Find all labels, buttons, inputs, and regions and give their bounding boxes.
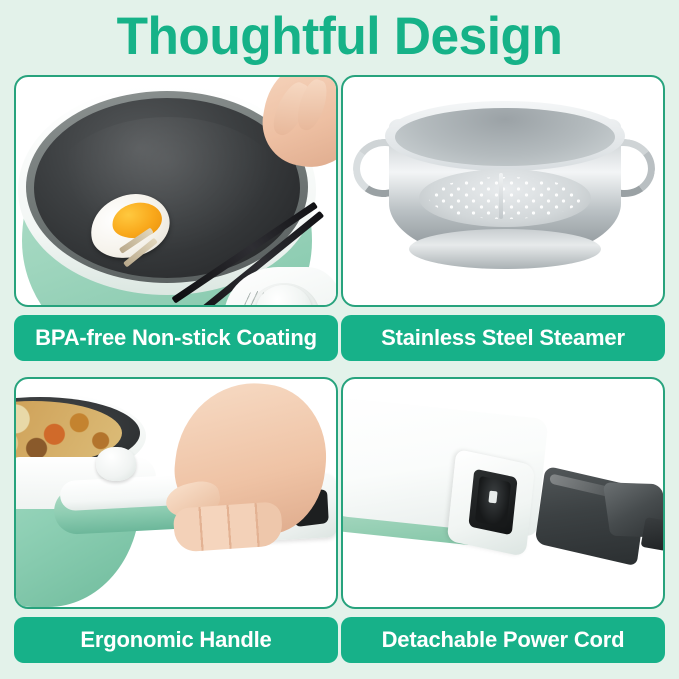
feature-photo-non-stick-coating — [14, 75, 338, 307]
feature-card-stainless-steamer[interactable]: Stainless Steel Steamer — [341, 75, 665, 361]
scene-power-cord — [343, 379, 663, 607]
feature-label-bar-stainless-steamer: Stainless Steel Steamer — [341, 315, 665, 361]
feature-panel-grid: BPA-free Non-stick Coating Stai — [14, 75, 665, 663]
feature-label-text: Detachable Power Cord — [382, 627, 625, 653]
feature-photo-ergonomic-handle — [14, 377, 338, 609]
plug-cord-stub — [641, 517, 665, 551]
feature-card-detachable-power-cord[interactable]: Detachable Power Cord — [341, 377, 665, 663]
feature-photo-detachable-power-cord — [341, 377, 665, 609]
feature-label-text: Ergonomic Handle — [80, 627, 271, 653]
feature-photo-stainless-steamer — [341, 75, 665, 307]
steamer-base-ring — [409, 229, 601, 269]
feature-label-text: BPA-free Non-stick Coating — [35, 325, 317, 351]
feature-label-bar-detachable-power-cord: Detachable Power Cord — [341, 617, 665, 663]
steamer-inner-wall — [395, 108, 615, 166]
scene-non-stick-pan — [16, 77, 336, 305]
feature-label-bar-ergonomic-handle: Ergonomic Handle — [14, 617, 338, 663]
feature-label-bar-non-stick-coating: BPA-free Non-stick Coating — [14, 315, 338, 361]
fingers — [173, 501, 284, 552]
control-knob — [96, 447, 136, 481]
page-title: Thoughtful Design — [10, 6, 669, 68]
steamer-center-divider — [499, 173, 503, 219]
scene-handle-grip — [16, 379, 336, 607]
feature-card-non-stick-coating[interactable]: BPA-free Non-stick Coating — [14, 75, 338, 361]
socket-key-pin — [488, 491, 497, 504]
feature-card-ergonomic-handle[interactable]: Ergonomic Handle — [14, 377, 338, 663]
feature-label-text: Stainless Steel Steamer — [381, 325, 625, 351]
scene-steamer-basket — [343, 77, 663, 305]
product-feature-infographic: Thoughtful Design — [0, 0, 679, 679]
perforated-base — [429, 177, 581, 219]
